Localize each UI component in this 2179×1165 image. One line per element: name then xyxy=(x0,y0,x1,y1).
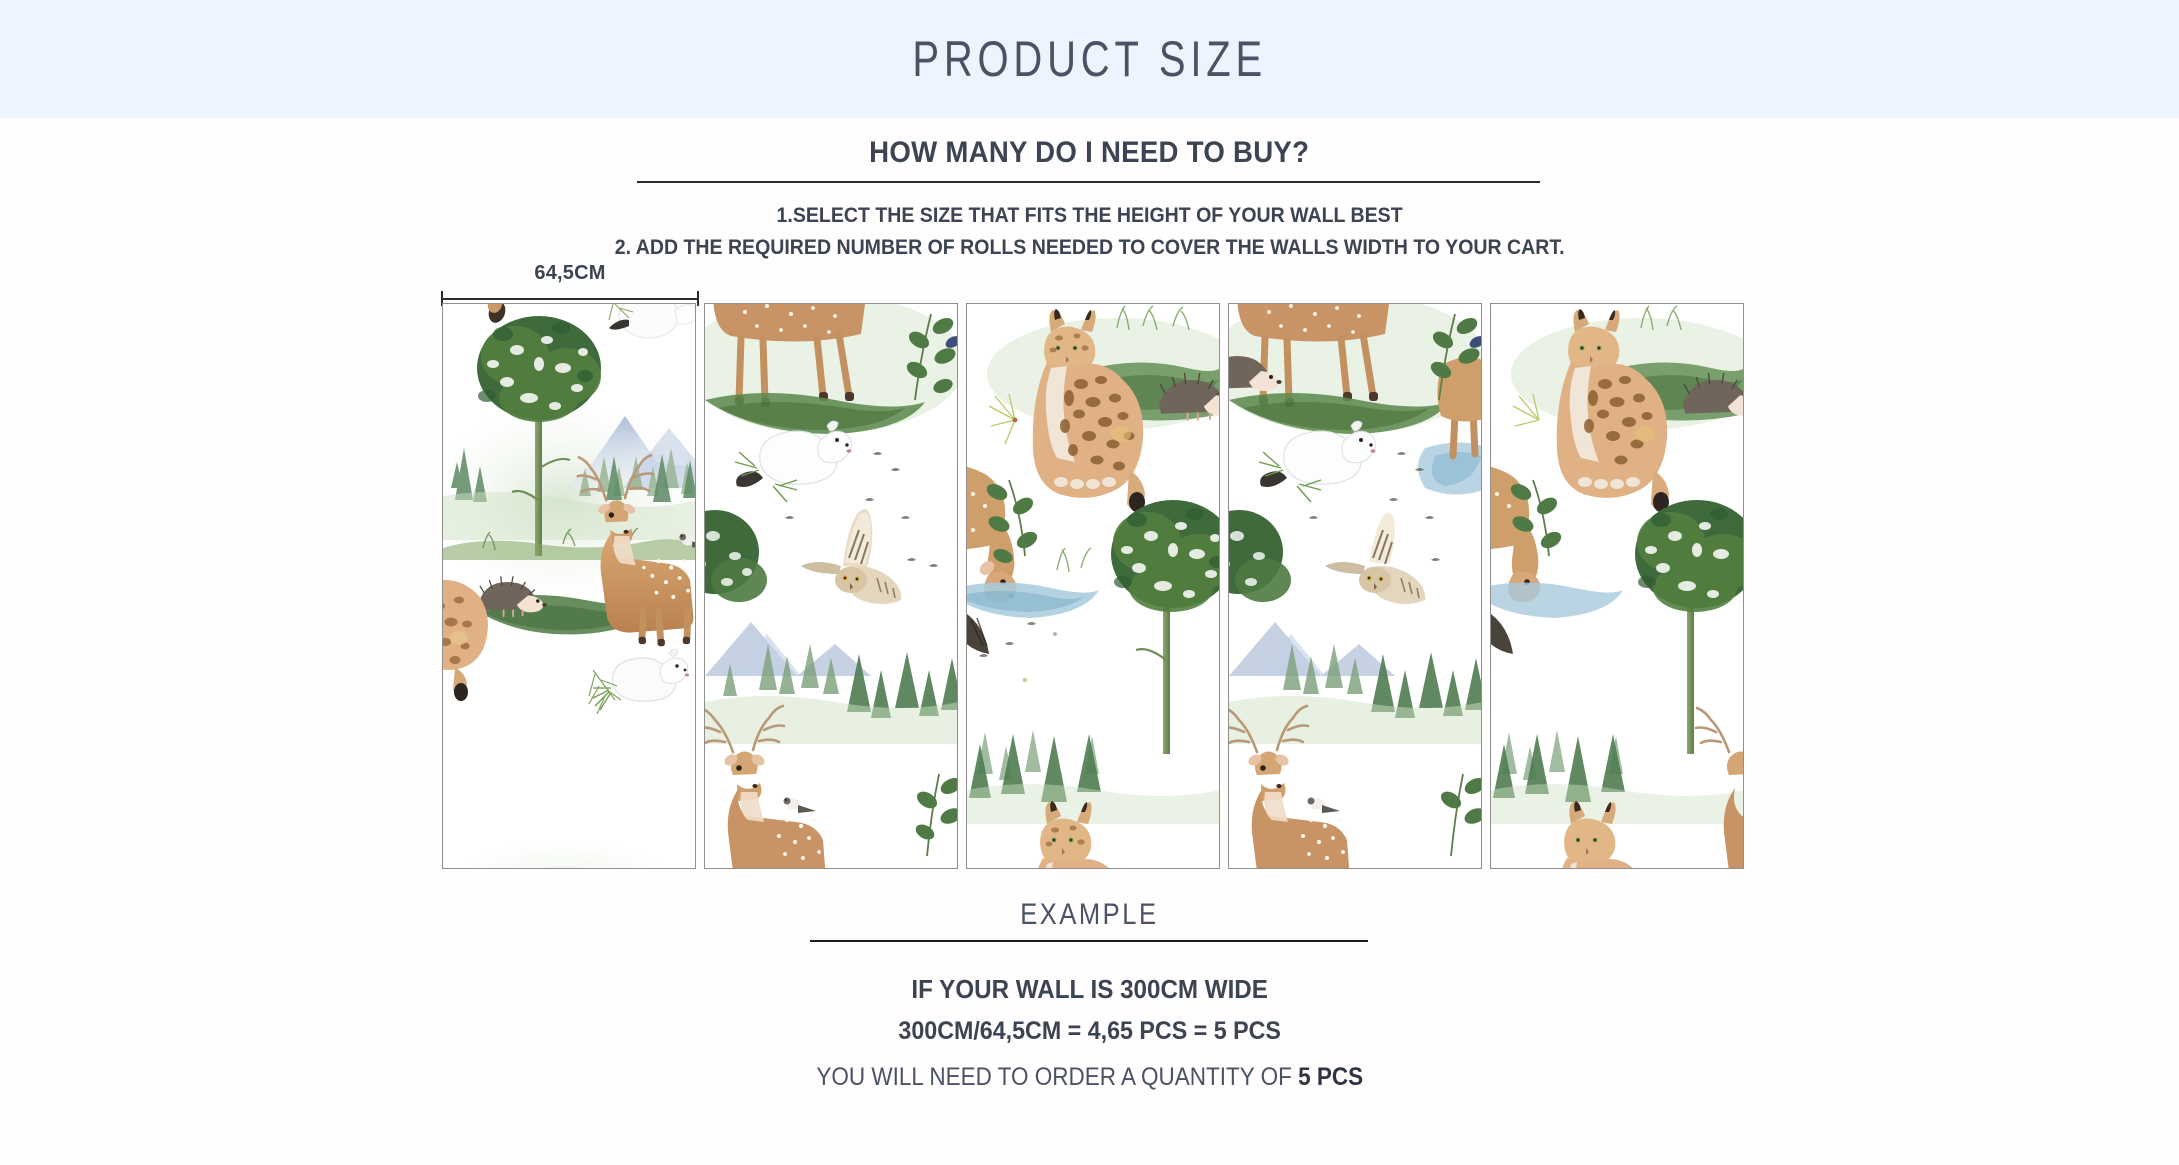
wallpaper-panel[interactable] xyxy=(1228,303,1482,869)
wallpaper-pattern-svg xyxy=(967,304,1220,869)
example-calculation: 300CM/64,5CM = 4,65 PCS = 5 PCS xyxy=(0,1010,2179,1052)
subtitle-divider xyxy=(637,181,1540,183)
instruction-item-2: 2. ADD THE REQUIRED NUMBER OF ROLLS NEED… xyxy=(0,232,2179,264)
wallpaper-pattern-svg xyxy=(1229,304,1482,869)
instruction-list: 1.SELECT THE SIZE THAT FITS THE HEIGHT O… xyxy=(0,200,2179,264)
wallpaper-pattern-svg xyxy=(1491,304,1744,869)
page-title: PRODUCT SIZE xyxy=(912,30,1267,88)
example-conclusion: YOU WILL NEED TO ORDER A QUANTITY OF 5 P… xyxy=(0,1063,2179,1092)
wallpaper-pattern-svg xyxy=(443,304,696,869)
example-heading: EXAMPLE xyxy=(0,898,2179,932)
section-subtitle: HOW MANY DO I NEED TO BUY? xyxy=(0,136,2179,170)
wallpaper-panel-strip xyxy=(442,303,1744,869)
example-divider xyxy=(810,940,1368,942)
wallpaper-panel[interactable] xyxy=(442,303,696,869)
wallpaper-pattern-svg xyxy=(705,304,958,869)
example-conclusion-prefix: YOU WILL NEED TO ORDER A QUANTITY OF xyxy=(816,1063,1298,1091)
example-body: IF YOUR WALL IS 300CM WIDE 300CM/64,5CM … xyxy=(0,968,2179,1052)
section-subtitle-text: HOW MANY DO I NEED TO BUY? xyxy=(869,136,1309,170)
instruction-item-1: 1.SELECT THE SIZE THAT FITS THE HEIGHT O… xyxy=(0,200,2179,232)
wallpaper-panel[interactable] xyxy=(1490,303,1744,869)
wallpaper-panel[interactable] xyxy=(704,303,958,869)
header-band: PRODUCT SIZE xyxy=(0,0,2179,118)
dimension-axis xyxy=(441,298,699,300)
example-conclusion-value: 5 PCS xyxy=(1298,1063,1363,1091)
dimension-label: 64,5CM xyxy=(441,262,699,285)
dimension-indicator: 64,5CM xyxy=(441,262,699,306)
product-size-page: PRODUCT SIZE HOW MANY DO I NEED TO BUY? … xyxy=(0,0,2179,1165)
example-wall-width: IF YOUR WALL IS 300CM WIDE xyxy=(0,968,2179,1010)
wallpaper-panel[interactable] xyxy=(966,303,1220,869)
